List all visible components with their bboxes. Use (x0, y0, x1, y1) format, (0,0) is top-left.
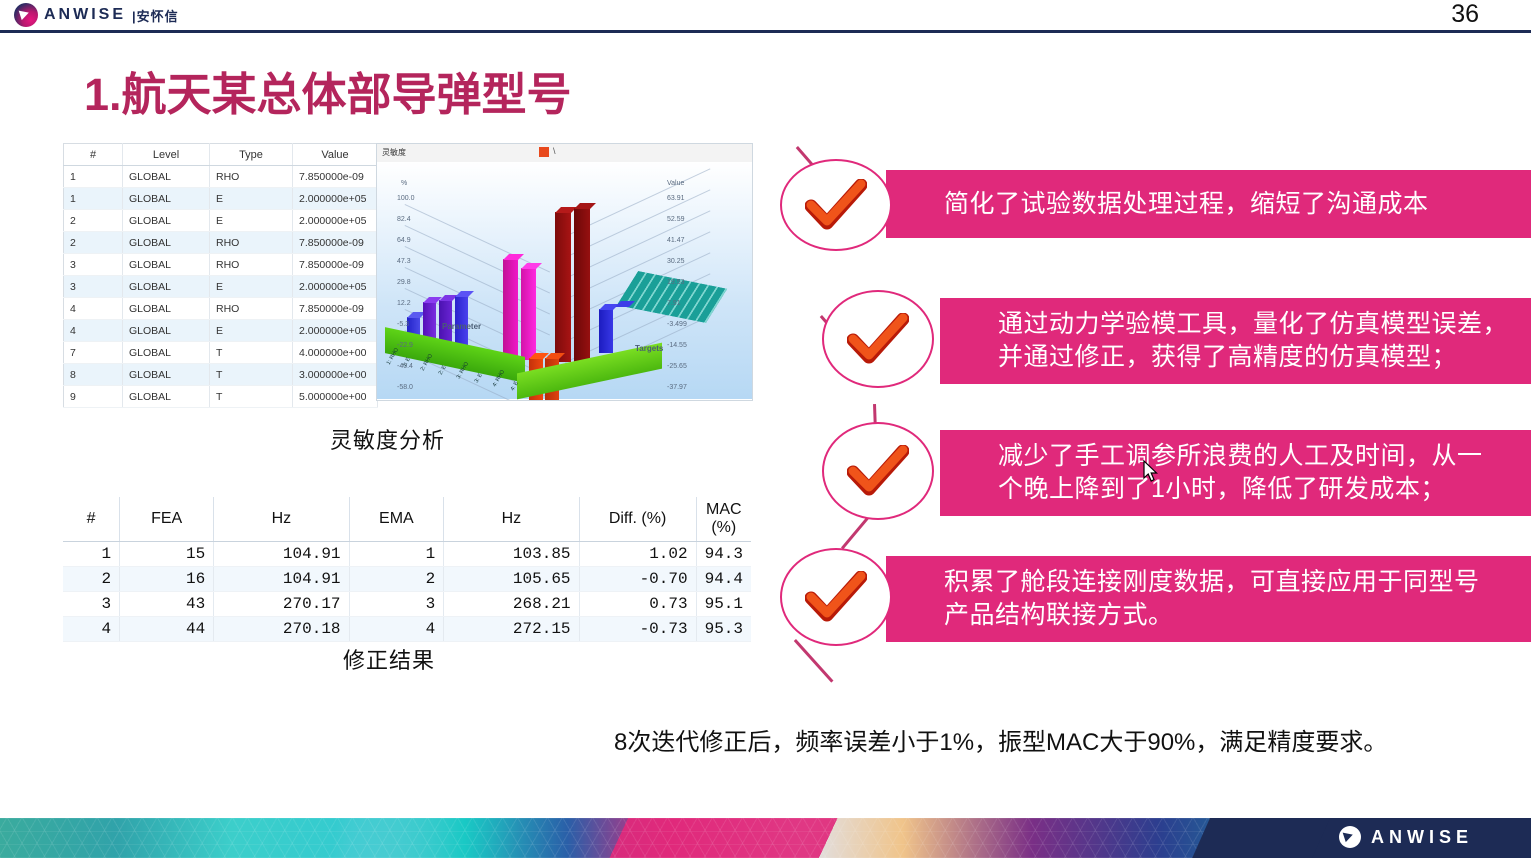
table-cell: 2 (64, 232, 123, 254)
tab-square-icon[interactable] (539, 147, 549, 157)
table-cell: 5.000000e+00 (293, 386, 378, 408)
chart-tab-label: \ (553, 146, 556, 156)
slide-canvas: ANWISE |安怀信 36 1.航天某总体部导弹型号 # Level Type… (0, 0, 1531, 858)
table-cell: T (210, 342, 293, 364)
header-brand-text: ANWISE (44, 6, 126, 24)
table-cell: 4 (63, 617, 120, 642)
table-row[interactable]: 9GLOBALT5.000000e+00 (64, 386, 378, 408)
table-cell: RHO (210, 298, 293, 320)
bullet-line: 产品结构联接方式。 (944, 599, 1174, 632)
header-brand-cn-text: |安怀信 (132, 6, 179, 25)
chart-axis-tick: 7.91 (667, 300, 681, 307)
slide-footer: ANWISE (0, 818, 1531, 858)
chart-bar (574, 208, 590, 364)
caption-correction: 修正结果 (343, 643, 435, 675)
bullet-line: 并通过修正，获得了高精度的仿真模型； (998, 341, 1457, 374)
table-cell: 7 (64, 342, 123, 364)
table-cell: 7.850000e-09 (293, 232, 378, 254)
table-cell: 2.000000e+05 (293, 276, 378, 298)
table-cell: 7.850000e-09 (293, 254, 378, 276)
col-diff: Diff. (%) (579, 497, 696, 542)
table-header-row: # FEA Hz EMA Hz Diff. (%) MAC (%) (63, 497, 751, 542)
table-cell: 15 (120, 542, 214, 567)
chart-axis-tick: 82.4 (397, 216, 411, 223)
table-cell: 0.73 (579, 592, 696, 617)
table-cell: 94.4 (696, 567, 751, 592)
col-ema: EMA (349, 497, 444, 542)
table-row[interactable]: 2GLOBALE2.000000e+05 (64, 210, 378, 232)
table-row[interactable]: 7GLOBALT4.000000e+00 (64, 342, 378, 364)
table-cell: E (210, 276, 293, 298)
bullet-text-bar: 简化了试验数据处理过程，缩短了沟通成本 (886, 170, 1531, 238)
table-row[interactable]: 2GLOBALRHO7.850000e-09 (64, 232, 378, 254)
table-row[interactable]: 115104.911103.851.0294.3 (63, 542, 751, 567)
chart-axis-tick: -5.3 (397, 321, 409, 328)
chart-yaxis-label: Targets (635, 344, 663, 353)
anwise-bird-logo-icon (1339, 826, 1361, 848)
footer-brand-text: ANWISE (1371, 827, 1473, 848)
table-cell: 3 (349, 592, 444, 617)
table-cell: RHO (210, 232, 293, 254)
table-cell: 4 (349, 617, 444, 642)
table-row[interactable]: 8GLOBALT3.000000e+00 (64, 364, 378, 386)
page-number: 36 (1451, 0, 1479, 29)
chart-bar (521, 268, 536, 360)
table-cell: 104.91 (214, 542, 349, 567)
anwise-bird-logo-icon (14, 3, 38, 27)
table-cell: T (210, 386, 293, 408)
table-cell: 103.85 (444, 542, 579, 567)
col-ema-hz: Hz (444, 497, 579, 542)
table-cell: GLOBAL (123, 254, 210, 276)
chart-axis-tick: -58.0 (397, 384, 413, 391)
chart-bar (503, 259, 518, 359)
header-divider (0, 30, 1531, 33)
col-level: Level (123, 144, 210, 166)
table-cell: 2 (349, 567, 444, 592)
sensitivity-table: # Level Type Value 1GLOBALRHO7.850000e-0… (63, 143, 378, 408)
table-cell: GLOBAL (123, 166, 210, 188)
chart-axis-tick: -3.499 (667, 321, 687, 328)
table-cell: E (210, 188, 293, 210)
table-cell: 270.18 (214, 617, 349, 642)
table-cell: 44 (120, 617, 214, 642)
slide-header: ANWISE |安怀信 36 (0, 0, 1531, 30)
table-cell: 1 (63, 542, 120, 567)
table-header-row: # Level Type Value (64, 144, 378, 166)
chart-axis-tick: 41.47 (667, 237, 685, 244)
table-cell: 268.21 (444, 592, 579, 617)
table-cell: 105.65 (444, 567, 579, 592)
table-cell: GLOBAL (123, 320, 210, 342)
col-fea-hz: Hz (214, 497, 349, 542)
page-title: 1.航天某总体部导弹型号 (84, 58, 572, 123)
chart-axis-tick: 30.25 (667, 258, 685, 265)
chart-left-axis-unit: % (401, 180, 407, 187)
chart-axis-tick: 19.53 (667, 279, 685, 286)
footer-hex-pattern (0, 818, 1290, 858)
bullet-text-bar: 减少了手工调参所浪费的人工及时间，从一 个晚上降到了1小时，降低了研发成本； (940, 430, 1531, 516)
chart-window-title: 灵敏度 (382, 147, 406, 158)
table-cell: -0.70 (579, 567, 696, 592)
col-value: Value (293, 144, 378, 166)
bullet-line: 个晚上降到了1小时，降低了研发成本； (998, 473, 1446, 506)
table-cell: 4 (64, 320, 123, 342)
chart-right-axis-unit: Value (667, 180, 684, 187)
chart-axis-tick: -22.9 (397, 342, 413, 349)
check-mark-icon (780, 159, 892, 251)
col-fea: FEA (120, 497, 214, 542)
chart-axis-tick: 64.9 (397, 237, 411, 244)
table-cell: 2 (63, 567, 120, 592)
check-mark-icon (822, 290, 934, 388)
table-cell: 4.000000e+00 (293, 342, 378, 364)
table-row[interactable]: 3GLOBALE2.000000e+05 (64, 276, 378, 298)
table-cell: 95.1 (696, 592, 751, 617)
col-mac: MAC (%) (696, 497, 751, 542)
col-index: # (64, 144, 123, 166)
table-cell: GLOBAL (123, 210, 210, 232)
table-cell: GLOBAL (123, 342, 210, 364)
table-cell: 104.91 (214, 567, 349, 592)
col-type: Type (210, 144, 293, 166)
check-mark-icon (780, 548, 892, 646)
table-cell: GLOBAL (123, 364, 210, 386)
table-cell: -0.73 (579, 617, 696, 642)
table-cell: 3 (63, 592, 120, 617)
table-cell: 3 (64, 254, 123, 276)
mouse-cursor (1143, 460, 1159, 489)
table-cell: 1 (64, 188, 123, 210)
footer-logo: ANWISE (1339, 826, 1473, 848)
chart-axis-tick: -14.55 (667, 342, 687, 349)
bullet-line: 简化了试验数据处理过程，缩短了沟通成本 (944, 188, 1429, 221)
chart-axis-tick: -25.65 (667, 363, 687, 370)
chart-axis-tick: 100.0 (397, 195, 415, 202)
bullet-line: 积累了舱段连接刚度数据，可直接应用于同型号 (944, 566, 1480, 599)
chart-bar (555, 212, 571, 362)
chart-axis-tick: 12.2 (397, 300, 411, 307)
table-row[interactable]: 4GLOBALRHO7.850000e-09 (64, 298, 378, 320)
correlation-table: # FEA Hz EMA Hz Diff. (%) MAC (%) 115104… (63, 497, 751, 642)
table-cell: T (210, 364, 293, 386)
chart-axis-tick: 29.8 (397, 279, 411, 286)
table-cell: GLOBAL (123, 386, 210, 408)
table-cell: 43 (120, 592, 214, 617)
bullet-line: 通过动力学验模工具，量化了仿真模型误差， (998, 308, 1508, 341)
table-row[interactable]: 343270.173268.210.7395.1 (63, 592, 751, 617)
table-cell: 3 (64, 276, 123, 298)
chart-axis-tick: 52.59 (667, 216, 685, 223)
table-cell: 2.000000e+05 (293, 210, 378, 232)
header-logo: ANWISE |安怀信 (14, 3, 179, 27)
chart-axis-tick: -40.4 (397, 363, 413, 370)
table-row[interactable]: 444270.184272.15-0.7395.3 (63, 617, 751, 642)
chart-bar (615, 306, 629, 352)
table-cell: 2.000000e+05 (293, 320, 378, 342)
correlation-table-body: 115104.911103.851.0294.3216104.912105.65… (63, 542, 751, 642)
table-cell: 7.850000e-09 (293, 166, 378, 188)
chart-plot-area: 1: RHO 1: E 2: RHO 2: E 3: RHO 3: E 4: R… (377, 162, 752, 399)
table-cell: 272.15 (444, 617, 579, 642)
check-mark-icon (822, 422, 934, 520)
table-row[interactable]: 4GLOBALE2.000000e+05 (64, 320, 378, 342)
chart-xaxis-label: Parameter (442, 322, 481, 331)
table-cell: 9 (64, 386, 123, 408)
table-cell: E (210, 320, 293, 342)
table-cell: 1 (64, 166, 123, 188)
table-row[interactable]: 1GLOBALE2.000000e+05 (64, 188, 378, 210)
bullet-text-bar: 通过动力学验模工具，量化了仿真模型误差， 并通过修正，获得了高精度的仿真模型； (940, 298, 1531, 384)
table-cell: 2.000000e+05 (293, 188, 378, 210)
chart-axis-tick: 63.91 (667, 195, 685, 202)
table-cell: GLOBAL (123, 298, 210, 320)
table-cell: GLOBAL (123, 188, 210, 210)
table-cell: 2 (64, 210, 123, 232)
table-cell: 16 (120, 567, 214, 592)
table-cell: RHO (210, 254, 293, 276)
table-cell: GLOBAL (123, 232, 210, 254)
chart-axis-tick: -37.97 (667, 384, 687, 391)
col-index: # (63, 497, 120, 542)
table-cell: 8 (64, 364, 123, 386)
table-row[interactable]: 216104.912105.65-0.7094.4 (63, 567, 751, 592)
table-cell: 94.3 (696, 542, 751, 567)
table-cell: E (210, 210, 293, 232)
table-row[interactable]: 1GLOBALRHO7.850000e-09 (64, 166, 378, 188)
chart-bar (599, 309, 613, 353)
summary-note: 8次迭代修正后，频率误差小于1%，振型MAC大于90%，满足精度要求。 (614, 722, 1387, 757)
footer-wedge (1192, 818, 1330, 858)
bullet-text-bar: 积累了舱段连接刚度数据，可直接应用于同型号 产品结构联接方式。 (886, 556, 1531, 642)
table-row[interactable]: 3GLOBALRHO7.850000e-09 (64, 254, 378, 276)
sensitivity-chart-panel[interactable]: 灵敏度 \ (376, 143, 753, 401)
table-cell: 270.17 (214, 592, 349, 617)
sensitivity-table-body: 1GLOBALRHO7.850000e-091GLOBALE2.000000e+… (64, 166, 378, 408)
table-cell: 1.02 (579, 542, 696, 567)
bullet-list: 简化了试验数据处理过程，缩短了沟通成本 通过动力学验模工具，量化了仿真模型误差，… (760, 150, 1531, 680)
chart-axis-tick: 47.3 (397, 258, 411, 265)
bullet-line: 减少了手工调参所浪费的人工及时间，从一 (998, 440, 1483, 473)
table-cell: 1 (349, 542, 444, 567)
table-cell: RHO (210, 166, 293, 188)
table-cell: 3.000000e+00 (293, 364, 378, 386)
table-cell: 7.850000e-09 (293, 298, 378, 320)
table-cell: 4 (64, 298, 123, 320)
chart-window-bar (377, 144, 752, 163)
caption-sensitivity: 灵敏度分析 (330, 423, 445, 455)
table-cell: 95.3 (696, 617, 751, 642)
table-cell: GLOBAL (123, 276, 210, 298)
